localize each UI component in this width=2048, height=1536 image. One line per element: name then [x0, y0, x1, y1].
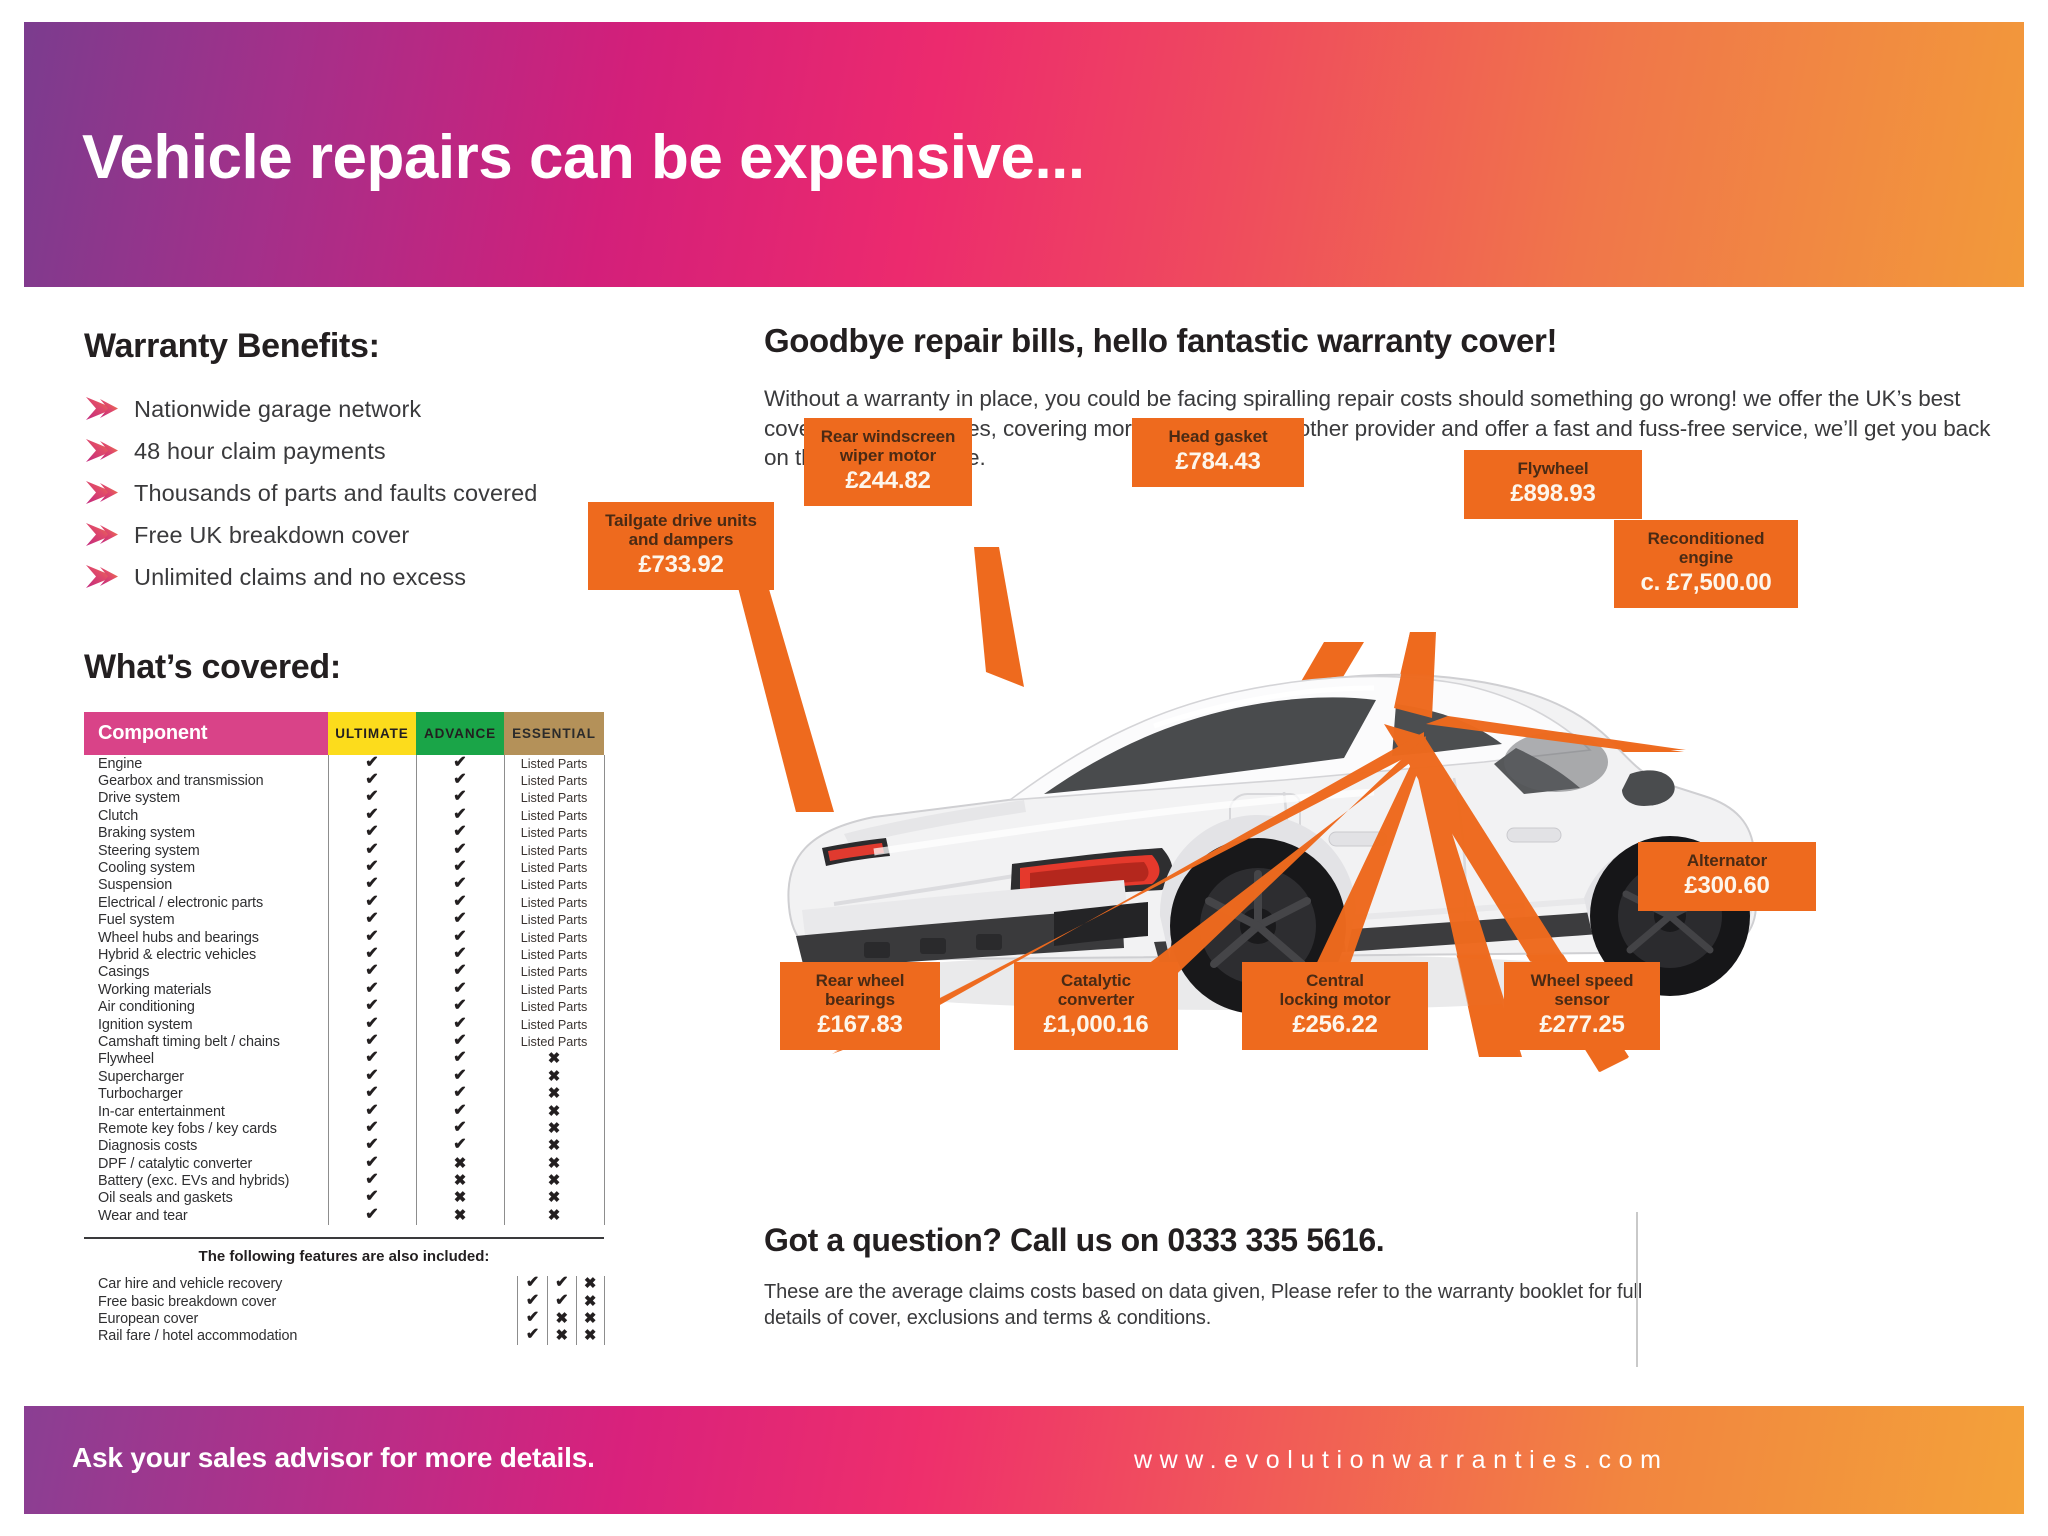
table-row: Cooling system✔✔Listed Parts	[84, 859, 644, 876]
coverage-listed-parts: Listed Parts	[504, 859, 604, 876]
coverage-tick-icon: ✔	[328, 1051, 416, 1068]
coverage-cross-icon: ✖	[504, 1190, 604, 1207]
component-name: Wear and tear	[84, 1207, 328, 1224]
component-name: Working materials	[84, 981, 328, 998]
coverage-tick-icon: ✔	[416, 859, 504, 876]
table-row: Remote key fobs / key cards✔✔✖	[84, 1120, 644, 1137]
callout-price: £784.43	[1144, 449, 1292, 476]
component-name: Diagnosis costs	[84, 1138, 328, 1155]
table-right-rule	[604, 1207, 644, 1224]
coverage-cross-icon: ✖	[576, 1310, 604, 1327]
column-header-essential: ESSENTIAL	[504, 712, 604, 755]
table-row: Electrical / electronic parts✔✔Listed Pa…	[84, 894, 644, 911]
coverage-tick-icon: ✔	[416, 1138, 504, 1155]
callout-recon-engine: Reconditionedengine c. £7,500.00	[1614, 520, 1798, 608]
table-row: Camshaft timing belt / chains✔✔Listed Pa…	[84, 1033, 644, 1050]
coverage-tick-icon: ✔	[416, 912, 504, 929]
component-name: Battery (exc. EVs and hybrids)	[84, 1172, 328, 1189]
coverage-tick-icon: ✔	[416, 877, 504, 894]
table-right-rule	[604, 929, 644, 946]
benefit-label: Free UK breakdown cover	[134, 522, 409, 549]
coverage-tick-icon: ✔	[328, 790, 416, 807]
component-name: Casings	[84, 964, 328, 981]
table-row: European cover✔✖✖	[84, 1310, 644, 1327]
coverage-tick-icon: ✔	[328, 946, 416, 963]
coverage-tick-icon: ✔	[416, 755, 504, 772]
callout-price: £1,000.16	[1026, 1012, 1166, 1039]
component-name: Steering system	[84, 842, 328, 859]
coverage-tick-icon: ✔	[328, 894, 416, 911]
benefit-label: Unlimited claims and no excess	[134, 564, 466, 591]
component-name: Camshaft timing belt / chains	[84, 1033, 328, 1050]
coverage-listed-parts: Listed Parts	[504, 1016, 604, 1033]
component-name: Fuel system	[84, 912, 328, 929]
table-right-rule	[604, 1276, 644, 1293]
callout-title: Flywheel	[1476, 459, 1630, 478]
coverage-tick-icon: ✔	[518, 1328, 547, 1345]
callout-title: Wheel speedsensor	[1516, 971, 1648, 1009]
coverage-listed-parts: Listed Parts	[504, 842, 604, 859]
callout-flywheel: Flywheel £898.93	[1464, 450, 1642, 519]
chevron-right-icon	[84, 563, 124, 591]
callout-wheel-speed: Wheel speedsensor £277.25	[1504, 962, 1660, 1050]
table-right-rule	[604, 946, 644, 963]
callout-title: Rear wheelbearings	[792, 971, 928, 1009]
left-column: Warranty Benefits: Nationwide garage net…	[84, 327, 704, 1345]
table-row: Car hire and vehicle recovery✔✔✖	[84, 1276, 644, 1293]
table-right-rule	[604, 1085, 644, 1102]
coverage-tick-icon: ✔	[416, 825, 504, 842]
coverage-tick-icon: ✔	[416, 1085, 504, 1102]
callout-price: £277.25	[1516, 1012, 1648, 1039]
table-right-rule	[604, 1051, 644, 1068]
callout-title: Reconditionedengine	[1626, 529, 1786, 567]
coverage-listed-parts: Listed Parts	[504, 998, 604, 1015]
coverage-tick-icon: ✔	[416, 981, 504, 998]
component-name: DPF / catalytic converter	[84, 1155, 328, 1172]
callout-connectors-and-car	[724, 512, 2014, 1202]
table-row: In-car entertainment✔✔✖	[84, 1103, 644, 1120]
coverage-listed-parts: Listed Parts	[504, 964, 604, 981]
table-row: Wheel hubs and bearings✔✔Listed Parts	[84, 929, 644, 946]
table-right-rule	[604, 1190, 644, 1207]
callout-central-lock: Centrallocking motor £256.22	[1242, 962, 1428, 1050]
also-included-table: Car hire and vehicle recovery✔✔✖Free bas…	[84, 1276, 644, 1346]
footer-banner: Ask your sales advisor for more details.…	[24, 1406, 2024, 1514]
callout-price: £244.82	[816, 468, 960, 495]
coverage-tick-icon: ✔	[416, 1120, 504, 1137]
coverage-cross-icon: ✖	[576, 1293, 604, 1310]
column-header-advance: ADVANCE	[416, 712, 504, 755]
callout-price: £733.92	[600, 552, 762, 579]
table-right-rule	[604, 998, 644, 1015]
component-name: Hybrid & electric vehicles	[84, 946, 328, 963]
coverage-listed-parts: Listed Parts	[504, 981, 604, 998]
cta-disclaimer: These are the average claims costs based…	[764, 1279, 1664, 1332]
page-title: Vehicle repairs can be expensive...	[82, 122, 1085, 193]
coverage-tick-icon: ✔	[328, 998, 416, 1015]
component-name: Suspension	[84, 877, 328, 894]
also-included-body: Car hire and vehicle recovery✔✔✖Free bas…	[84, 1276, 644, 1346]
component-name: Air conditioning	[84, 998, 328, 1015]
coverage-tick-icon: ✔	[416, 946, 504, 963]
table-right-rule	[604, 1016, 644, 1033]
table-header-row: Component ULTIMATE ADVANCE ESSENTIAL	[84, 712, 644, 755]
table-row: Wear and tear✔✖✖	[84, 1207, 644, 1224]
component-name: Remote key fobs / key cards	[84, 1120, 328, 1137]
component-name: Engine	[84, 755, 328, 772]
coverage-cross-icon: ✖	[547, 1328, 576, 1345]
callout-title: Rear windscreenwiper motor	[816, 427, 960, 465]
coverage-cross-icon: ✖	[504, 1138, 604, 1155]
coverage-tick-icon: ✔	[328, 1190, 416, 1207]
callout-price: £300.60	[1650, 873, 1804, 900]
component-name: Wheel hubs and bearings	[84, 929, 328, 946]
coverage-tick-icon: ✔	[416, 1033, 504, 1050]
coverage-tick-icon: ✔	[416, 1068, 504, 1085]
table-right-rule	[604, 1103, 644, 1120]
table-right-rule	[604, 912, 644, 929]
component-name: Oil seals and gaskets	[84, 1190, 328, 1207]
cta-phone-title: Got a question? Call us on 0333 335 5616…	[764, 1222, 1664, 1259]
table-row: Working materials✔✔Listed Parts	[84, 981, 644, 998]
coverage-tick-icon: ✔	[328, 1138, 416, 1155]
table-right-rule	[604, 1310, 644, 1327]
table-row: Free basic breakdown cover✔✔✖	[84, 1293, 644, 1310]
table-right-rule	[604, 877, 644, 894]
coverage-cross-icon: ✖	[576, 1328, 604, 1345]
cta-block: Got a question? Call us on 0333 335 5616…	[764, 1222, 1664, 1332]
coverage-tick-icon: ✔	[328, 912, 416, 929]
coverage-tick-icon: ✔	[416, 929, 504, 946]
coverage-listed-parts: Listed Parts	[504, 755, 604, 772]
table-right-rule	[604, 859, 644, 876]
coverage-cross-icon: ✖	[416, 1207, 504, 1224]
table-right-rule	[604, 1138, 644, 1155]
table-row: Battery (exc. EVs and hybrids)✔✖✖	[84, 1172, 644, 1189]
coverage-tick-icon: ✔	[328, 1068, 416, 1085]
component-name: Gearbox and transmission	[84, 772, 328, 789]
coverage-listed-parts: Listed Parts	[504, 772, 604, 789]
coverage-tick-icon: ✔	[416, 807, 504, 824]
coverage-tick-icon: ✔	[328, 1172, 416, 1189]
table-row: Hybrid & electric vehicles✔✔Listed Parts	[84, 946, 644, 963]
coverage-cross-icon: ✖	[504, 1207, 604, 1224]
coverage-tick-icon: ✔	[328, 1120, 416, 1137]
coverage-tick-icon: ✔	[547, 1293, 576, 1310]
component-name: Turbocharger	[84, 1085, 328, 1102]
table-row: Fuel system✔✔Listed Parts	[84, 912, 644, 929]
callout-alternator: Alternator £300.60	[1638, 842, 1816, 911]
coverage-cross-icon: ✖	[416, 1155, 504, 1172]
coverage-tick-icon: ✔	[328, 929, 416, 946]
coverage-cross-icon: ✖	[576, 1276, 604, 1293]
chevron-right-icon	[84, 437, 124, 465]
coverage-listed-parts: Listed Parts	[504, 912, 604, 929]
callout-title: Head gasket	[1144, 427, 1292, 446]
coverage-tick-icon: ✔	[416, 772, 504, 789]
benefit-item: Nationwide garage network	[84, 388, 704, 430]
table-row: Casings✔✔Listed Parts	[84, 964, 644, 981]
table-row: DPF / catalytic converter✔✖✖	[84, 1155, 644, 1172]
table-right-rule	[604, 964, 644, 981]
callout-price: c. £7,500.00	[1626, 570, 1786, 597]
coverage-cross-icon: ✖	[504, 1172, 604, 1189]
whats-covered-heading: What’s covered:	[84, 648, 704, 687]
coverage-tick-icon: ✔	[328, 1085, 416, 1102]
benefit-item: 48 hour claim payments	[84, 430, 704, 472]
table-right-rule	[604, 1033, 644, 1050]
table-right-rule	[604, 1068, 644, 1085]
component-name: Drive system	[84, 790, 328, 807]
coverage-cross-icon: ✖	[547, 1310, 576, 1327]
footer-website[interactable]: www.evolutionwarranties.com	[1134, 1446, 1669, 1475]
callout-title: Alternator	[1650, 851, 1804, 870]
coverage-tick-icon: ✔	[416, 998, 504, 1015]
table-right-rule	[604, 807, 644, 824]
also-included-title: The following features are also included…	[84, 1239, 604, 1276]
chevron-right-icon	[84, 395, 124, 423]
callout-title: Centrallocking motor	[1254, 971, 1416, 1009]
coverage-tick-icon: ✔	[328, 1033, 416, 1050]
poster-sheet: Vehicle repairs can be expensive... Warr…	[24, 22, 2024, 1514]
coverage-tick-icon: ✔	[328, 964, 416, 981]
coverage-cross-icon: ✖	[504, 1155, 604, 1172]
cta-divider	[1636, 1212, 1638, 1367]
coverage-cross-icon: ✖	[504, 1103, 604, 1120]
table-row: Suspension✔✔Listed Parts	[84, 877, 644, 894]
coverage-tick-icon: ✔	[328, 859, 416, 876]
component-name: Cooling system	[84, 859, 328, 876]
coverage-tick-icon: ✔	[416, 790, 504, 807]
column-header-spacer	[604, 712, 644, 755]
component-name: Car hire and vehicle recovery	[84, 1276, 518, 1293]
coverage-cross-icon: ✖	[504, 1068, 604, 1085]
coverage-cross-icon: ✖	[416, 1172, 504, 1189]
chevron-right-icon	[84, 479, 124, 507]
callout-rear-wiper: Rear windscreenwiper motor £244.82	[804, 418, 972, 506]
coverage-listed-parts: Listed Parts	[504, 790, 604, 807]
table-right-rule	[604, 1328, 644, 1345]
table-right-rule	[604, 894, 644, 911]
warranty-benefits-heading: Warranty Benefits:	[84, 327, 704, 366]
table-right-rule	[604, 790, 644, 807]
table-right-rule	[604, 981, 644, 998]
coverage-tick-icon: ✔	[328, 877, 416, 894]
component-name: Flywheel	[84, 1051, 328, 1068]
table-row: Rail fare / hotel accommodation✔✖✖	[84, 1328, 644, 1345]
coverage-tick-icon: ✔	[328, 842, 416, 859]
component-name: Electrical / electronic parts	[84, 894, 328, 911]
table-row: Flywheel✔✔✖	[84, 1051, 644, 1068]
table-right-rule	[604, 842, 644, 859]
table-row: Steering system✔✔Listed Parts	[84, 842, 644, 859]
callout-rear-wheel: Rear wheelbearings £167.83	[780, 962, 940, 1050]
coverage-listed-parts: Listed Parts	[504, 929, 604, 946]
table-row: Supercharger✔✔✖	[84, 1068, 644, 1085]
table-row: Engine✔✔Listed Parts	[84, 755, 644, 772]
callout-price: £256.22	[1254, 1012, 1416, 1039]
component-name: European cover	[84, 1310, 518, 1327]
component-name: Clutch	[84, 807, 328, 824]
component-name: In-car entertainment	[84, 1103, 328, 1120]
table-row: Oil seals and gaskets✔✖✖	[84, 1190, 644, 1207]
table-right-rule	[604, 1120, 644, 1137]
table-right-rule	[604, 772, 644, 789]
coverage-tick-icon: ✔	[518, 1276, 547, 1293]
table-row: Diagnosis costs✔✔✖	[84, 1138, 644, 1155]
coverage-tick-icon: ✔	[416, 1016, 504, 1033]
table-right-rule	[604, 755, 644, 772]
coverage-listed-parts: Listed Parts	[504, 807, 604, 824]
coverage-tick-icon: ✔	[328, 1103, 416, 1120]
benefit-label: 48 hour claim payments	[134, 438, 386, 465]
poster-page: Vehicle repairs can be expensive... Warr…	[0, 0, 2048, 1536]
coverage-tick-icon: ✔	[328, 1207, 416, 1224]
table-right-rule	[604, 825, 644, 842]
callout-price: £167.83	[792, 1012, 928, 1039]
coverage-listed-parts: Listed Parts	[504, 894, 604, 911]
coverage-tick-icon: ✔	[518, 1310, 547, 1327]
coverage-tick-icon: ✔	[416, 842, 504, 859]
header-banner: Vehicle repairs can be expensive...	[24, 22, 2024, 287]
car-diagram: Tailgate drive unitsand dampers £733.92 …	[724, 512, 2014, 1202]
table-row: Turbocharger✔✔✖	[84, 1085, 644, 1102]
coverage-tick-icon: ✔	[328, 755, 416, 772]
table-right-rule	[604, 1172, 644, 1189]
coverage-listed-parts: Listed Parts	[504, 877, 604, 894]
table-row: Gearbox and transmission✔✔Listed Parts	[84, 772, 644, 789]
coverage-listed-parts: Listed Parts	[504, 1033, 604, 1050]
table-right-rule	[604, 1293, 644, 1310]
coverage-tick-icon: ✔	[328, 825, 416, 842]
callout-title: Catalyticconverter	[1026, 971, 1166, 1009]
coverage-tick-icon: ✔	[328, 772, 416, 789]
coverage-table-body: Engine✔✔Listed PartsGearbox and transmis…	[84, 755, 644, 1225]
component-name: Supercharger	[84, 1068, 328, 1085]
coverage-cross-icon: ✖	[504, 1120, 604, 1137]
callout-catalytic: Catalyticconverter £1,000.16	[1014, 962, 1178, 1050]
coverage-tick-icon: ✔	[518, 1293, 547, 1310]
coverage-listed-parts: Listed Parts	[504, 946, 604, 963]
component-name: Free basic breakdown cover	[84, 1293, 518, 1310]
footer-message: Ask your sales advisor for more details.	[72, 1442, 595, 1474]
column-header-ultimate: ULTIMATE	[328, 712, 416, 755]
table-row: Air conditioning✔✔Listed Parts	[84, 998, 644, 1015]
table-row: Ignition system✔✔Listed Parts	[84, 1016, 644, 1033]
table-right-rule	[604, 1155, 644, 1172]
table-row: Braking system✔✔Listed Parts	[84, 825, 644, 842]
coverage-tick-icon: ✔	[328, 807, 416, 824]
coverage-tick-icon: ✔	[547, 1276, 576, 1293]
column-header-component: Component	[84, 712, 328, 755]
coverage-listed-parts: Listed Parts	[504, 825, 604, 842]
coverage-tick-icon: ✔	[416, 964, 504, 981]
chevron-right-icon	[84, 521, 124, 549]
coverage-tick-icon: ✔	[416, 1103, 504, 1120]
component-name: Braking system	[84, 825, 328, 842]
table-row: Drive system✔✔Listed Parts	[84, 790, 644, 807]
benefit-label: Nationwide garage network	[134, 396, 421, 423]
coverage-tick-icon: ✔	[416, 894, 504, 911]
benefit-label: Thousands of parts and faults covered	[134, 480, 537, 507]
coverage-table: Component ULTIMATE ADVANCE ESSENTIAL Eng…	[84, 712, 644, 1225]
callout-title: Tailgate drive unitsand dampers	[600, 511, 762, 549]
coverage-cross-icon: ✖	[416, 1190, 504, 1207]
table-row: Clutch✔✔Listed Parts	[84, 807, 644, 824]
coverage-tick-icon: ✔	[416, 1051, 504, 1068]
coverage-cross-icon: ✖	[504, 1085, 604, 1102]
component-name: Ignition system	[84, 1016, 328, 1033]
coverage-tick-icon: ✔	[328, 981, 416, 998]
coverage-tick-icon: ✔	[328, 1016, 416, 1033]
callout-tailgate: Tailgate drive unitsand dampers £733.92	[588, 502, 774, 590]
right-heading: Goodbye repair bills, hello fantastic wa…	[764, 322, 2004, 360]
callout-head-gasket: Head gasket £784.43	[1132, 418, 1304, 487]
coverage-tick-icon: ✔	[328, 1155, 416, 1172]
callout-price: £898.93	[1476, 481, 1630, 508]
component-name: Rail fare / hotel accommodation	[84, 1328, 518, 1345]
coverage-cross-icon: ✖	[504, 1051, 604, 1068]
